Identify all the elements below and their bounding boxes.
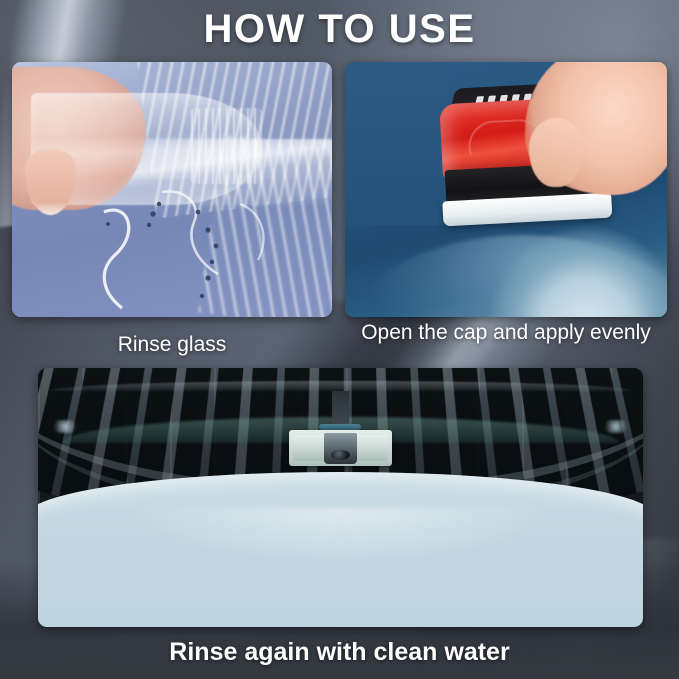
step-3-scene (38, 368, 643, 627)
step-2-caption: Open the cap and apply evenly (345, 320, 667, 345)
reflection-spot-right (601, 420, 631, 433)
reflection-spot-left (50, 420, 80, 433)
thumb (529, 118, 584, 187)
step-1-image (12, 62, 332, 317)
infographic-root: HOW TO USE (0, 0, 679, 679)
step-1-scene (12, 62, 332, 317)
page-title: HOW TO USE (0, 6, 679, 52)
step-2-scene (345, 62, 667, 317)
windshield-gloss (86, 508, 594, 612)
water-droplets (106, 202, 218, 298)
step-3-caption: Rinse again with clean water (0, 637, 679, 667)
step-1-caption: Rinse glass (12, 332, 332, 357)
step-2-image (345, 62, 667, 317)
car-body-left (345, 62, 448, 225)
step-3-image (38, 368, 643, 627)
water-stream-icon (12, 62, 332, 317)
